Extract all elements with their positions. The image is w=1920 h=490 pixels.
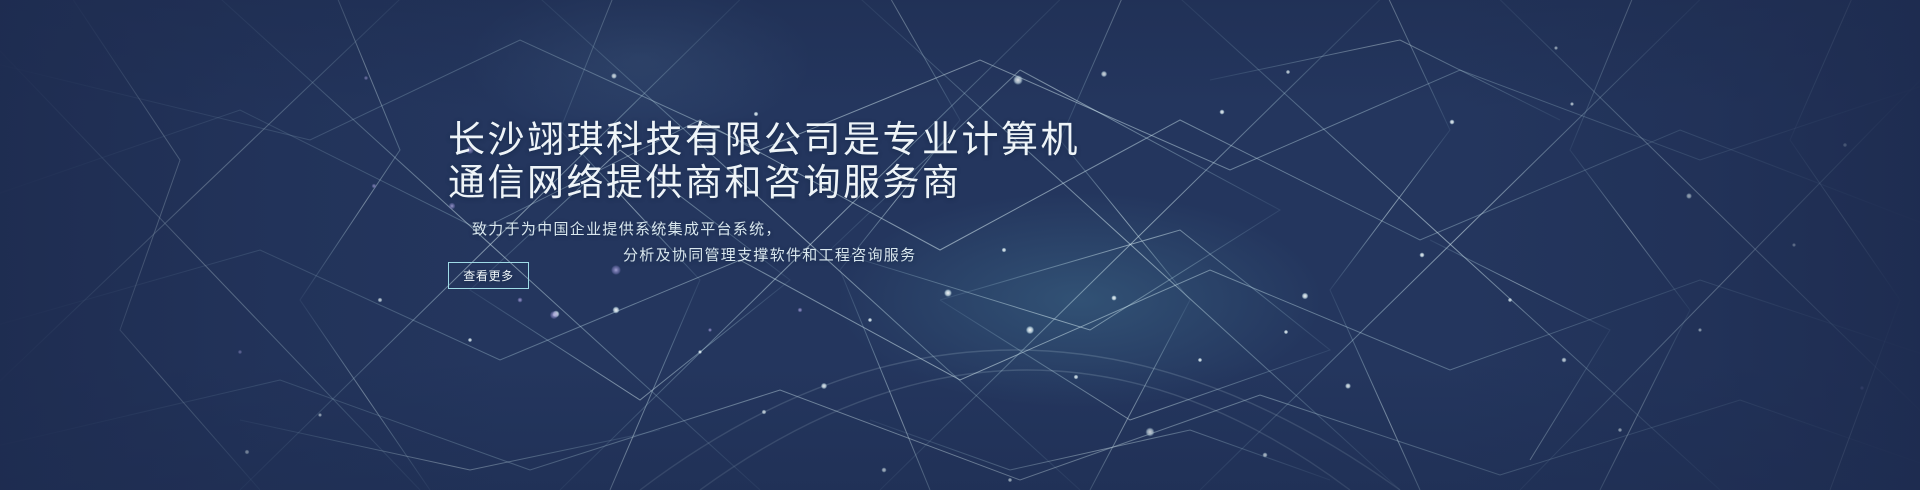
view-more-button[interactable]: 查看更多 <box>448 262 529 289</box>
subtitle-line-2: 分析及协同管理支撑软件和工程咨询服务 <box>448 243 1448 269</box>
hero-banner: 长沙翊琪科技有限公司是专业计算机 通信网络提供商和咨询服务商 致力于为中国企业提… <box>0 0 1920 490</box>
banner-subtitle: 致力于为中国企业提供系统集成平台系统， 分析及协同管理支撑软件和工程咨询服务 <box>448 217 1448 269</box>
banner-content: 长沙翊琪科技有限公司是专业计算机 通信网络提供商和咨询服务商 致力于为中国企业提… <box>448 118 1448 269</box>
headline-line-1: 长沙翊琪科技有限公司是专业计算机 <box>448 119 1080 160</box>
banner-headline: 长沙翊琪科技有限公司是专业计算机 通信网络提供商和咨询服务商 <box>448 118 1448 204</box>
headline-line-2: 通信网络提供商和咨询服务商 <box>448 161 1448 204</box>
subtitle-line-1: 致力于为中国企业提供系统集成平台系统， <box>448 217 1448 243</box>
view-more-button-label: 查看更多 <box>463 267 513 284</box>
